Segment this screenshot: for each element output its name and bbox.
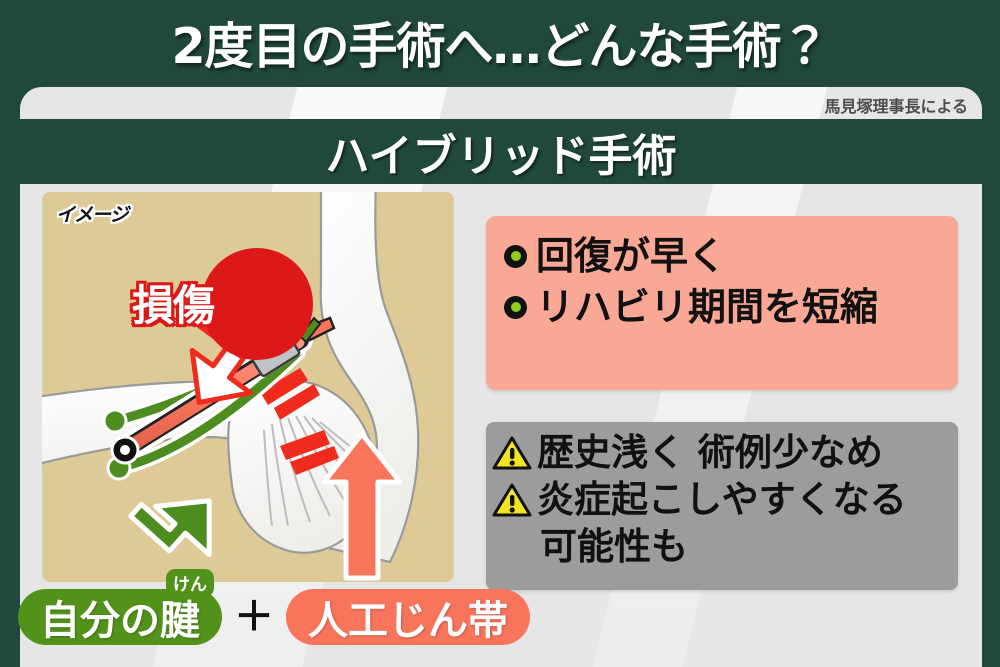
warning-triangle-icon <box>492 436 532 475</box>
bullet-dot-icon <box>504 245 527 268</box>
elbow-diagram-svg <box>42 192 454 582</box>
caution-text: 可能性も <box>540 524 688 569</box>
legend-tendon-pill: 自分の腱 けん <box>18 589 222 645</box>
plus-sign: ＋ <box>234 597 274 637</box>
caution-text: 炎症起こしやすくなる <box>537 477 907 522</box>
caution-item: 炎症起こしやすくなる <box>492 477 958 522</box>
caution-text: 歴史浅く 術例少なめ <box>537 430 883 475</box>
damage-label: 損傷 <box>132 272 214 333</box>
attribution-text: 馬見塚理事長による <box>824 93 968 117</box>
caution-item: 歴史浅く 術例少なめ <box>492 430 958 475</box>
tendon-callout-arrow <box>131 469 236 573</box>
legend-row: 自分の腱 けん ＋ 人工じん帯 <box>0 586 500 648</box>
cautions-box: 歴史浅く 術例少なめ 炎症起こしやすくなる 可能性も <box>486 422 958 590</box>
image-tag-label: イメージ <box>56 200 128 227</box>
benefit-item: リハビリ期間を短縮 <box>504 285 958 330</box>
legend-tendon-furigana: けん <box>166 569 214 597</box>
legend-ligament-pill: 人工じん帯 <box>286 589 530 645</box>
page-title: 2度目の手術へ…どんな手術？ <box>0 2 1000 82</box>
benefits-box: 回復が早く リハビリ期間を短縮 <box>486 216 958 390</box>
elbow-illustration: 損傷 イメージ <box>42 192 454 582</box>
benefit-item: 回復が早く <box>504 234 958 279</box>
section-title: ハイブリッド手術 <box>325 120 676 184</box>
benefit-text: 回復が早く <box>536 234 726 279</box>
bullet-dot-icon <box>504 296 527 319</box>
slide-root: 2度目の手術へ…どんな手術？ 馬見塚理事長による ハイブリッド手術 <box>0 0 1000 667</box>
legend-ligament-label: 人工じん帯 <box>308 588 508 646</box>
benefit-text: リハビリ期間を短縮 <box>536 285 878 330</box>
caution-item-continuation: 可能性も <box>540 524 958 569</box>
warning-triangle-icon <box>492 483 532 522</box>
damage-badge <box>201 248 313 360</box>
section-title-band: ハイブリッド手術 <box>20 119 982 184</box>
